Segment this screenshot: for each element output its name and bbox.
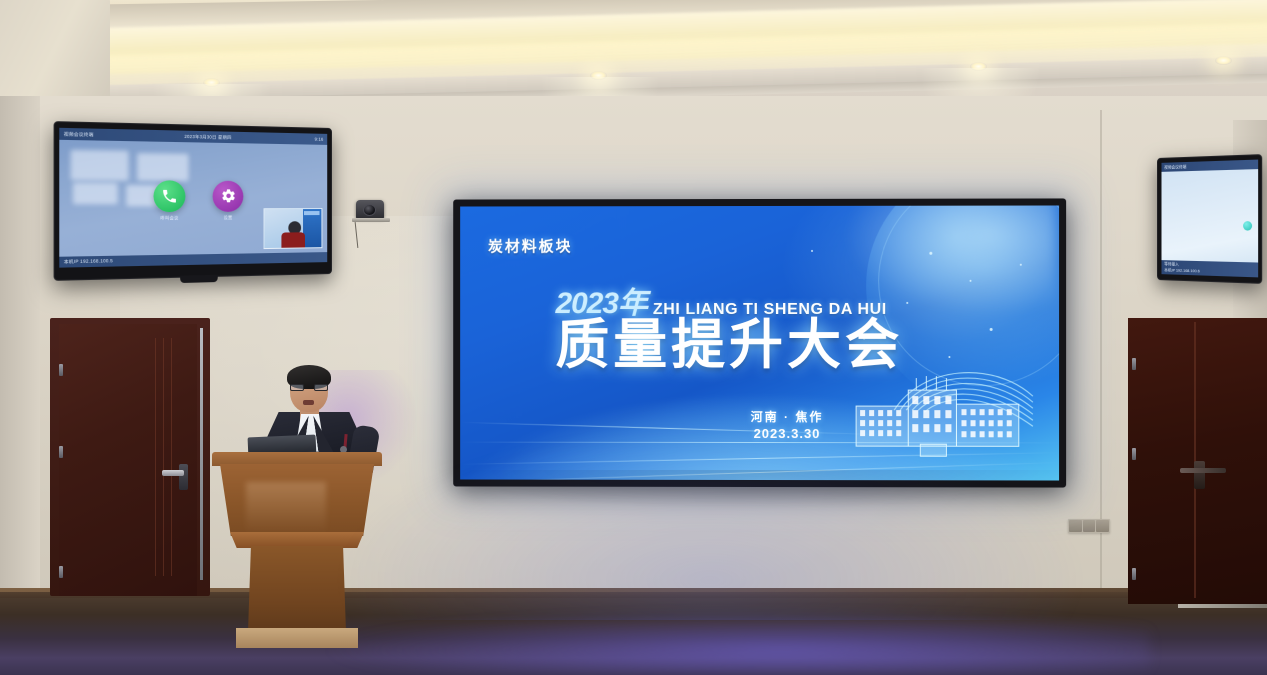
socket-icon [1069, 520, 1082, 532]
ptz-camera-icon [352, 200, 390, 226]
right-tv-topbar: 视频会议终端 [1162, 160, 1259, 172]
ceiling [0, 0, 1267, 110]
main-led-screen[interactable]: 炭材料板块 2023年 ZHI LIANG TI SHENG DA HUI 质量… [453, 198, 1066, 487]
door-groove [155, 338, 156, 576]
settings-button[interactable]: 设置 [213, 180, 244, 221]
wall-sockets[interactable] [1068, 519, 1110, 533]
podium-column [248, 546, 346, 632]
right-tv-topbar-text: 视频会议终端 [1164, 164, 1186, 171]
podium-midsection [230, 532, 364, 548]
call-button[interactable]: 呼叫会议 [153, 180, 185, 221]
left-door[interactable] [50, 318, 210, 596]
background-window-blur [73, 183, 118, 205]
left-tv-screen[interactable]: 视频会议终端 2023年3月30日 星期四 9:16 呼叫会议 [59, 128, 327, 268]
camera-mount [352, 218, 390, 222]
left-door-leaf [59, 324, 197, 596]
right-door-split [1194, 322, 1196, 598]
left-tv-topbar-time: 9:16 [315, 137, 324, 142]
wall-left-return [0, 96, 40, 636]
door-hinge-icon [59, 566, 63, 578]
downlight-icon [970, 62, 987, 71]
right-tv-screen[interactable]: 视频会议终端 等待接入 本机IP 192.168.100.6 [1162, 160, 1259, 278]
glasses-lens [290, 384, 304, 391]
call-controls: 呼叫会议 设置 [153, 180, 243, 221]
conference-room-scene: 视频会议终端 2023年3月30日 星期四 9:16 呼叫会议 [0, 0, 1267, 675]
door-hinge-icon [1132, 568, 1136, 580]
door-lock-plate [179, 464, 188, 490]
door-hinge-icon [1132, 358, 1136, 370]
slide-canvas: 炭材料板块 2023年 ZHI LIANG TI SHENG DA HUI 质量… [460, 205, 1059, 480]
slide-particle [929, 252, 932, 255]
presenter-mouth [303, 400, 314, 405]
door-hinge-icon [59, 446, 63, 458]
slide-particle [1020, 264, 1022, 266]
left-tv-topbar-right: 2023年3月30日 星期四 [184, 133, 231, 140]
left-tv-display[interactable]: 视频会议终端 2023年3月30日 星期四 9:16 呼叫会议 [54, 121, 332, 281]
screen-wall-shadow [430, 470, 1090, 510]
pip-label [304, 211, 320, 215]
glasses-icon [290, 384, 328, 391]
downlight-icon [590, 71, 607, 80]
picture-in-picture-preview[interactable] [264, 208, 323, 249]
slide-place-label: 河南 · 焦作 [727, 408, 847, 425]
slide-sector-label: 炭材料板块 [488, 235, 573, 256]
right-tv-display[interactable]: 视频会议终端 等待接入 本机IP 192.168.100.6 [1157, 154, 1262, 284]
door-groove [163, 338, 164, 576]
left-tv-topbar-left: 视频会议终端 [64, 131, 94, 138]
door-hinge-icon [59, 364, 63, 376]
podium [212, 452, 382, 675]
downlight-icon [203, 78, 220, 87]
left-tv-ip-text: 本机IP 192.168.100.5 [64, 258, 113, 265]
door-lock-plate [1194, 461, 1205, 489]
podium-top [212, 452, 382, 466]
door-groove [171, 338, 172, 576]
slide-date-label: 2023.3.30 [727, 426, 847, 441]
call-button-label: 呼叫会议 [153, 215, 185, 222]
podium-sheen [246, 482, 326, 534]
tv-stand [180, 275, 218, 283]
podium-base [236, 628, 358, 648]
socket-icon [1083, 520, 1096, 532]
slide-building-graphic [842, 348, 1039, 458]
background-window-blur [71, 150, 129, 181]
gear-icon [213, 180, 244, 211]
status-dot-icon [1243, 221, 1252, 231]
slide-particle [811, 250, 813, 252]
floor-light-reflection [330, 612, 1150, 675]
glasses-lens [314, 384, 328, 391]
door-hinge-icon [1132, 448, 1136, 460]
door-handle-icon[interactable] [1180, 468, 1226, 473]
door-edge-strip [200, 328, 203, 580]
camera-lens-icon [363, 204, 376, 216]
wall-seam [1100, 110, 1102, 590]
right-door[interactable] [1128, 318, 1267, 604]
door-sill [1178, 604, 1267, 608]
ceiling-left-return [0, 0, 110, 110]
slide-footer-block: 河南 · 焦作 2023.3.30 [727, 408, 847, 441]
door-handle-icon[interactable] [162, 470, 184, 476]
phone-icon [153, 180, 185, 212]
podium-front-panel [220, 464, 374, 536]
pip-person-body [282, 232, 305, 248]
settings-button-label: 设置 [213, 214, 244, 220]
socket-icon [1096, 520, 1109, 532]
background-window-blur [137, 153, 188, 181]
downlight-icon [1215, 56, 1232, 65]
